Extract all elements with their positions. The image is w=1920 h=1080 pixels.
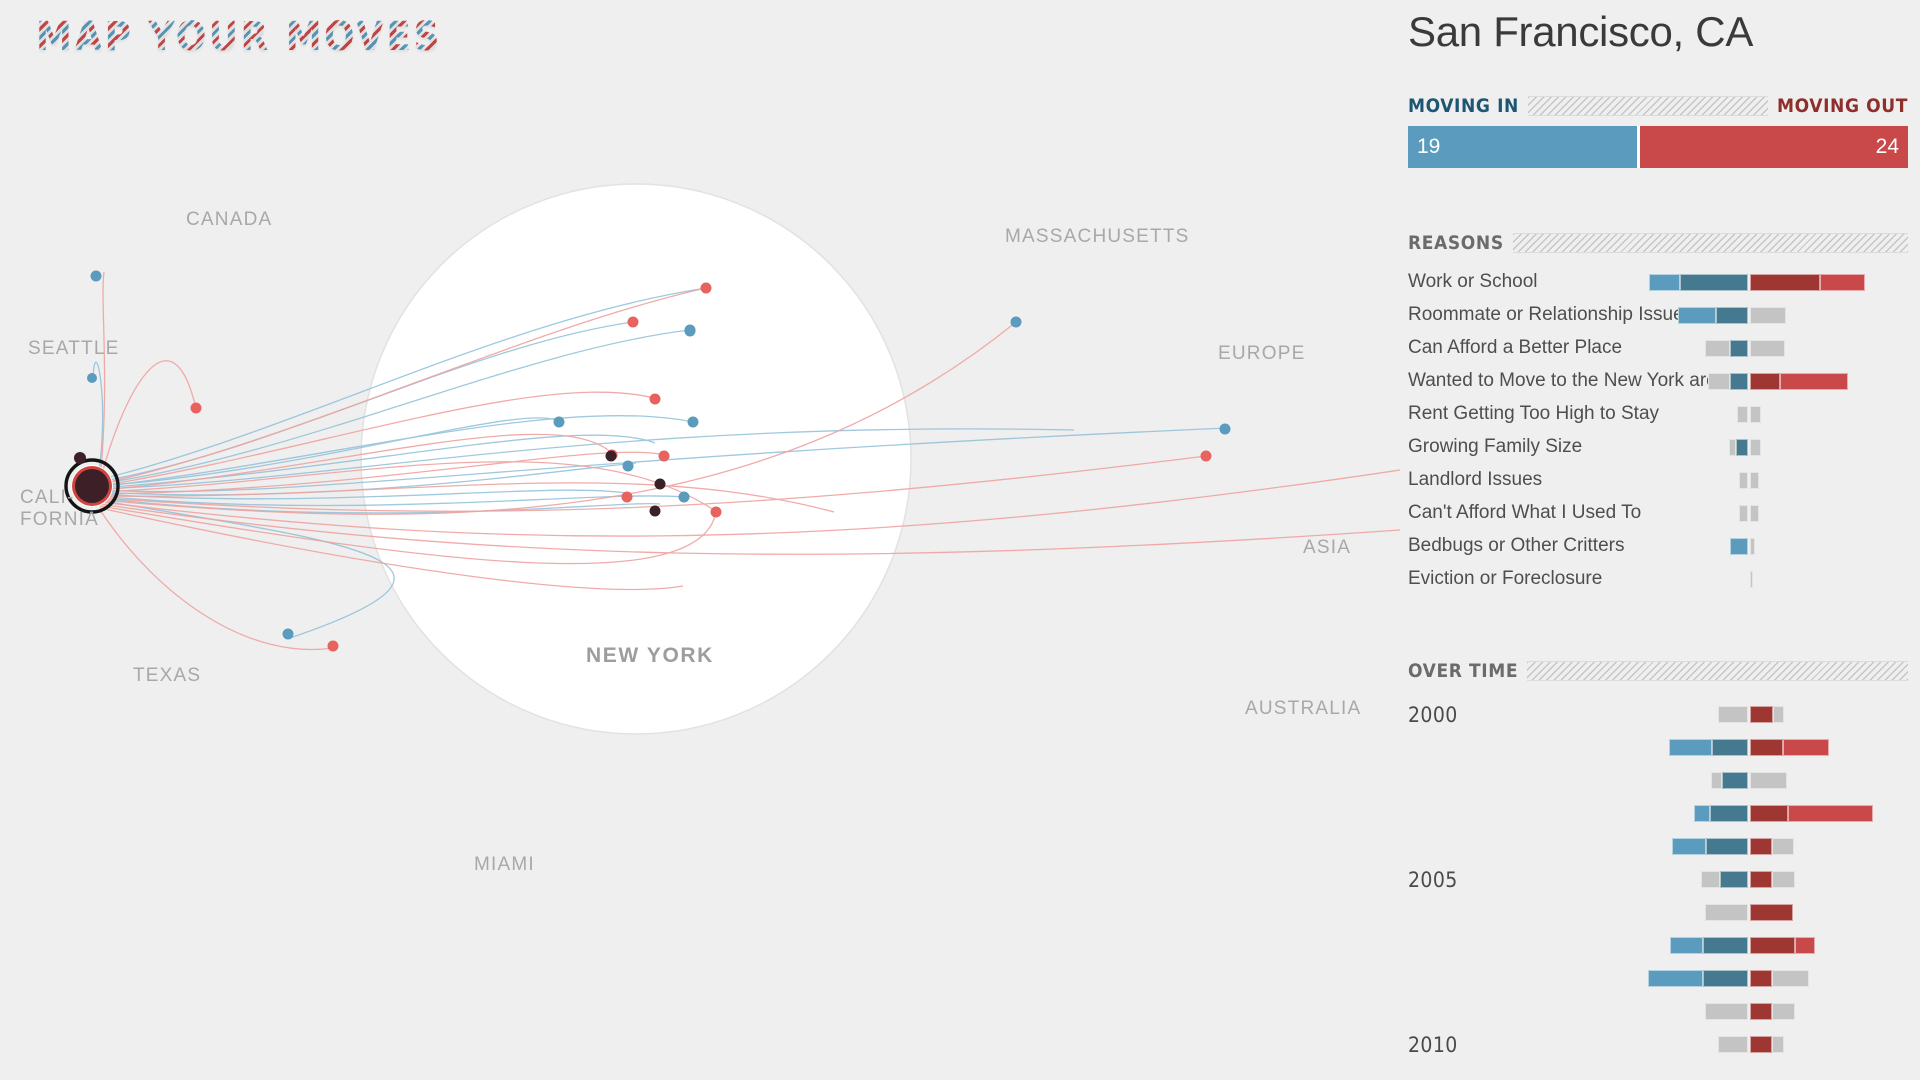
overtime-header: OVER TIME bbox=[1408, 660, 1908, 682]
overtime-bar-in[interactable] bbox=[1400, 739, 1748, 756]
reason-bar-in[interactable] bbox=[1400, 505, 1748, 522]
reason-bar-out-gray bbox=[1750, 472, 1759, 489]
overtime-bar-out-light bbox=[1783, 739, 1829, 756]
reason-bar-out-dark bbox=[1750, 373, 1780, 390]
reason-bar-out[interactable] bbox=[1750, 571, 1918, 588]
overtime-bar-out-gray bbox=[1772, 1036, 1784, 1053]
overtime-bar-out-gray bbox=[1772, 871, 1795, 888]
reason-bar-out[interactable] bbox=[1750, 340, 1918, 357]
reason-bar-in-gray bbox=[1729, 439, 1736, 456]
reasons-list: Work or SchoolRoommate or Relationship I… bbox=[1400, 268, 1920, 598]
overtime-bar-in-light bbox=[1669, 739, 1712, 756]
overtime-bar-in[interactable] bbox=[1400, 838, 1748, 855]
moving-in-segment[interactable]: 19 bbox=[1408, 126, 1637, 168]
reason-bar-in[interactable] bbox=[1400, 406, 1748, 423]
reason-bar-out-gray bbox=[1750, 505, 1759, 522]
overtime-bar-out[interactable] bbox=[1750, 772, 1918, 789]
reason-row[interactable]: Can't Afford What I Used To bbox=[1400, 499, 1920, 532]
city-detail-panel: San Francisco, CA MOVING IN MOVING OUT 1… bbox=[1400, 0, 1920, 1080]
reason-bar-out[interactable] bbox=[1750, 307, 1918, 324]
overtime-bar-out-dark bbox=[1750, 838, 1772, 855]
overtime-bar-in[interactable] bbox=[1400, 805, 1748, 822]
overtime-row[interactable]: 2010 bbox=[1400, 1030, 1920, 1063]
overtime-bar-in-dark bbox=[1710, 805, 1748, 822]
california-hub[interactable] bbox=[66, 452, 118, 512]
reason-bar-out[interactable] bbox=[1750, 274, 1918, 291]
reason-row[interactable]: Eviction or Foreclosure bbox=[1400, 565, 1920, 598]
overtime-bar-in-dark bbox=[1703, 937, 1748, 954]
reason-bar-in-light bbox=[1678, 307, 1716, 324]
overtime-bar-out[interactable] bbox=[1750, 805, 1918, 822]
overtime-bar-in-gray bbox=[1705, 904, 1748, 921]
overtime-bar-out-dark bbox=[1750, 805, 1788, 822]
overtime-bar-in[interactable] bbox=[1400, 970, 1748, 987]
overtime-bar-in-gray bbox=[1701, 871, 1720, 888]
overtime-bar-in-light bbox=[1648, 970, 1703, 987]
overtime-bar-in-dark bbox=[1722, 772, 1748, 789]
overtime-bar-out-dark bbox=[1750, 1003, 1772, 1020]
reason-bar-out[interactable] bbox=[1750, 472, 1918, 489]
map-panel[interactable]: MAP YOUR MOVES CANADASEATTLECALI- FORNIA… bbox=[0, 0, 1400, 1080]
reason-bar-in-gray bbox=[1705, 340, 1730, 357]
overtime-bar-out[interactable] bbox=[1750, 706, 1918, 723]
overtime-bar-in[interactable] bbox=[1400, 937, 1748, 954]
overtime-bar-in-dark bbox=[1706, 838, 1748, 855]
reason-row[interactable]: Growing Family Size bbox=[1400, 433, 1920, 466]
overtime-bar-out-dark bbox=[1750, 904, 1793, 921]
hatch-rule bbox=[1527, 661, 1908, 681]
reason-bar-out-light bbox=[1820, 274, 1865, 291]
hatch-rule bbox=[1528, 96, 1768, 116]
overtime-bar-in[interactable] bbox=[1400, 706, 1748, 723]
moving-out-label: MOVING OUT bbox=[1777, 95, 1908, 117]
overtime-bar-out-gray bbox=[1772, 1003, 1795, 1020]
reason-bar-in[interactable] bbox=[1400, 340, 1748, 357]
overtime-bar-in-light bbox=[1670, 937, 1703, 954]
overtime-bar-in[interactable] bbox=[1400, 1036, 1748, 1053]
reason-bar-out[interactable] bbox=[1750, 406, 1918, 423]
overtime-bar-out-dark bbox=[1750, 871, 1772, 888]
overtime-bar-out-light bbox=[1795, 937, 1815, 954]
reason-bar-in[interactable] bbox=[1400, 472, 1748, 489]
overtime-list: 200020052010 bbox=[1400, 700, 1920, 1063]
overtime-bar-out-gray bbox=[1772, 970, 1809, 987]
reason-bar-out-gray bbox=[1750, 406, 1761, 423]
overtime-bar-in[interactable] bbox=[1400, 1003, 1748, 1020]
reason-bar-out-dark bbox=[1750, 274, 1820, 291]
reason-row[interactable]: Wanted to Move to the New York area bbox=[1400, 367, 1920, 400]
overtime-bar-out[interactable] bbox=[1750, 871, 1918, 888]
reason-bar-out-gray bbox=[1750, 307, 1786, 324]
city-name: San Francisco, CA bbox=[1408, 8, 1753, 56]
reason-bar-in[interactable] bbox=[1400, 439, 1748, 456]
reason-bar-in-gray bbox=[1737, 406, 1748, 423]
overtime-bar-out[interactable] bbox=[1750, 1003, 1918, 1020]
overtime-bar-in[interactable] bbox=[1400, 904, 1748, 921]
overtime-bar-out[interactable] bbox=[1750, 1036, 1918, 1053]
overtime-bar-out-dark bbox=[1750, 937, 1795, 954]
overtime-bar-in-gray bbox=[1711, 772, 1722, 789]
reason-bar-in-dark bbox=[1730, 373, 1748, 390]
reason-bar-in-light bbox=[1730, 538, 1748, 555]
moving-in-label: MOVING IN bbox=[1408, 95, 1519, 117]
overtime-bar-out[interactable] bbox=[1750, 937, 1918, 954]
reasons-header: REASONS bbox=[1408, 232, 1908, 254]
overtime-bar-out[interactable] bbox=[1750, 838, 1918, 855]
overtime-bar-in-dark bbox=[1703, 970, 1748, 987]
overtime-title: OVER TIME bbox=[1408, 660, 1518, 682]
reason-bar-in-dark bbox=[1716, 307, 1748, 324]
overtime-bar-in-dark bbox=[1720, 871, 1748, 888]
reason-row[interactable]: Rent Getting Too High to Stay bbox=[1400, 400, 1920, 433]
moving-in-value: 19 bbox=[1417, 135, 1440, 159]
overtime-bar-in-gray bbox=[1718, 1036, 1748, 1053]
overtime-row[interactable] bbox=[1400, 898, 1920, 931]
reason-row[interactable]: Landlord Issues bbox=[1400, 466, 1920, 499]
overtime-row[interactable] bbox=[1400, 733, 1920, 766]
overtime-bar-out[interactable] bbox=[1750, 739, 1918, 756]
overtime-bar-out-dark bbox=[1750, 1036, 1772, 1053]
overtime-row[interactable]: 2000 bbox=[1400, 700, 1920, 733]
reason-bar-in-gray bbox=[1739, 472, 1748, 489]
overtime-bar-out-light bbox=[1788, 805, 1873, 822]
flow-map[interactable] bbox=[0, 0, 1400, 1080]
overtime-bar-out-dark bbox=[1750, 970, 1772, 987]
map-your-moves-app: MAP YOUR MOVES CANADASEATTLECALI- FORNIA… bbox=[0, 0, 1920, 1080]
overtime-bar-in-light bbox=[1672, 838, 1706, 855]
overtime-row[interactable] bbox=[1400, 931, 1920, 964]
moving-out-segment[interactable]: 24 bbox=[1640, 126, 1908, 168]
overtime-row[interactable] bbox=[1400, 964, 1920, 997]
page-title: MAP YOUR MOVES bbox=[36, 14, 442, 60]
reason-bar-out-gray bbox=[1750, 340, 1785, 357]
overtime-bar-in[interactable] bbox=[1400, 871, 1748, 888]
reason-row[interactable]: Roommate or Relationship Issues bbox=[1400, 301, 1920, 334]
reason-bar-in-gray bbox=[1708, 373, 1730, 390]
overtime-bar-out-dark bbox=[1750, 739, 1783, 756]
overtime-row[interactable] bbox=[1400, 799, 1920, 832]
reason-bar-in-gray bbox=[1739, 505, 1748, 522]
reason-bar-in[interactable] bbox=[1400, 307, 1748, 324]
overtime-bar-in-dark bbox=[1712, 739, 1748, 756]
reason-row[interactable]: Can Afford a Better Place bbox=[1400, 334, 1920, 367]
overtime-row[interactable] bbox=[1400, 766, 1920, 799]
reason-bar-in[interactable] bbox=[1400, 538, 1748, 555]
overtime-bar-out-gray bbox=[1773, 706, 1784, 723]
overtime-row[interactable] bbox=[1400, 997, 1920, 1030]
reason-bar-out-gray bbox=[1750, 439, 1761, 456]
reason-bar-in-dark bbox=[1730, 340, 1748, 357]
reason-bar-out[interactable] bbox=[1750, 373, 1918, 390]
overtime-bar-out[interactable] bbox=[1750, 904, 1918, 921]
overtime-bar-in-gray bbox=[1718, 706, 1748, 723]
reason-bar-in-light bbox=[1649, 274, 1680, 291]
reason-bar-out[interactable] bbox=[1750, 439, 1918, 456]
overtime-bar-out[interactable] bbox=[1750, 970, 1918, 987]
overtime-bar-out-gray bbox=[1772, 838, 1794, 855]
reason-bar-out-gray bbox=[1750, 538, 1755, 555]
reason-row[interactable]: Work or School bbox=[1400, 268, 1920, 301]
reason-bar-out[interactable] bbox=[1750, 538, 1918, 555]
overtime-bar-in-gray bbox=[1705, 1003, 1748, 1020]
moving-out-value: 24 bbox=[1876, 135, 1899, 159]
reason-bar-out-light bbox=[1780, 373, 1848, 390]
reason-bar-out-gray bbox=[1750, 571, 1753, 588]
reason-bar-in[interactable] bbox=[1400, 274, 1748, 291]
overtime-bar-out-gray bbox=[1750, 772, 1787, 789]
overtime-row[interactable]: 2005 bbox=[1400, 865, 1920, 898]
reason-bar-in-dark bbox=[1680, 274, 1748, 291]
overtime-row[interactable] bbox=[1400, 832, 1920, 865]
reason-row[interactable]: Bedbugs or Other Critters bbox=[1400, 532, 1920, 565]
overtime-bar-in-light bbox=[1694, 805, 1710, 822]
reasons-title: REASONS bbox=[1408, 232, 1504, 254]
overtime-bar-in[interactable] bbox=[1400, 772, 1748, 789]
reason-bar-in-dark bbox=[1736, 439, 1748, 456]
overtime-bar-out-dark bbox=[1750, 706, 1773, 723]
net-flow-bar[interactable]: 19 24 bbox=[1408, 126, 1908, 168]
flow-header: MOVING IN MOVING OUT bbox=[1408, 95, 1908, 117]
hatch-rule bbox=[1513, 233, 1908, 253]
reason-bar-in[interactable] bbox=[1400, 571, 1748, 588]
reason-bar-out[interactable] bbox=[1750, 505, 1918, 522]
reason-bar-in[interactable] bbox=[1400, 373, 1748, 390]
